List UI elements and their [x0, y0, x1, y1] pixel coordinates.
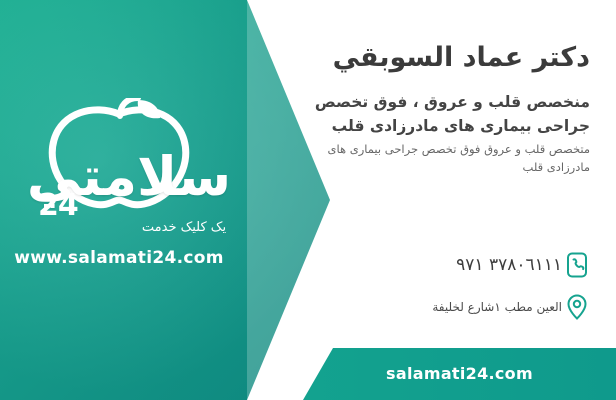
doctor-specialty-arabic-line1: منخصص قلب و عروق ، فوق تخصص	[170, 90, 590, 114]
doctor-specialty-persian-line2: مادرزادی قلب	[170, 158, 590, 176]
doctor-specialty-arabic-line2: جراحی بیماری های مادرزادی قلب	[170, 114, 590, 138]
brand-website-left: www.salamati24.com	[6, 248, 232, 268]
doctor-name: دكتر عماد السوبقي	[150, 42, 590, 73]
business-card: سلامتي 24 یک کلیک خدمت www.salamati24.co…	[0, 0, 616, 400]
doctor-specialty-arabic: منخصص قلب و عروق ، فوق تخصص جراحی بیماری…	[170, 90, 590, 138]
phone-number: ٣٧٨٠٦١١١ ٩٧١	[456, 255, 562, 275]
footer-bar: salamati24.com	[303, 348, 616, 400]
phone-icon	[562, 250, 592, 280]
logo-number-24: 24	[38, 188, 78, 223]
logo-tagline: یک کلیک خدمت	[126, 220, 242, 235]
doctor-specialty-persian: متخصص قلب و عروق فوق تخصص جراحی بیماری ه…	[170, 140, 590, 176]
contact-phone-row[interactable]: ٣٧٨٠٦١١١ ٩٧١	[446, 250, 592, 280]
address-text: العين مطب ١شارع لخليفة	[432, 300, 562, 314]
contact-address-row[interactable]: العين مطب ١شارع لخليفة	[422, 292, 592, 322]
footer-website: salamati24.com	[303, 348, 616, 400]
location-pin-icon	[562, 292, 592, 322]
doctor-specialty-persian-line1: متخصص قلب و عروق فوق تخصص جراحی بیماری ه…	[170, 140, 590, 158]
